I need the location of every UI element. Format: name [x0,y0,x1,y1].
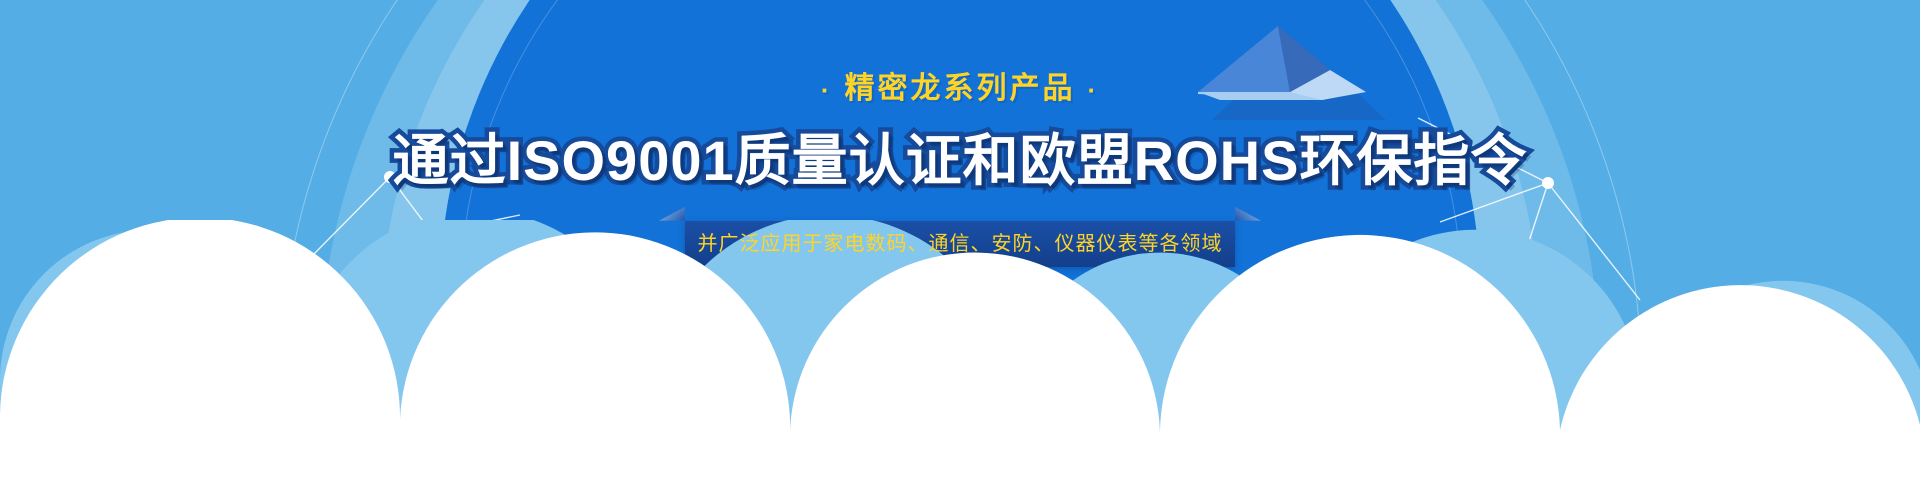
page-title: 通过ISO9001质量认证和欧盟ROHS环保指令 [0,132,1920,191]
eyebrow-left-dot: · [821,77,833,103]
eyebrow-text: ·精密龙系列产品· [0,74,1920,104]
eyebrow-right-dot: · [1088,77,1100,103]
promo-banner: ·精密龙系列产品· 通过ISO9001质量认证和欧盟ROHS环保指令 并广泛应用… [0,0,1920,480]
ribbon-fold-right-icon [1235,207,1261,221]
subtitle-text: 并广泛应用于家电数码、通信、安防、仪器仪表等各领域 [685,221,1235,267]
subtitle-ribbon: 并广泛应用于家电数码、通信、安防、仪器仪表等各领域 [685,221,1235,267]
ribbon-fold-left-icon [659,207,685,221]
eyebrow-label: 精密龙系列产品 [845,72,1076,105]
